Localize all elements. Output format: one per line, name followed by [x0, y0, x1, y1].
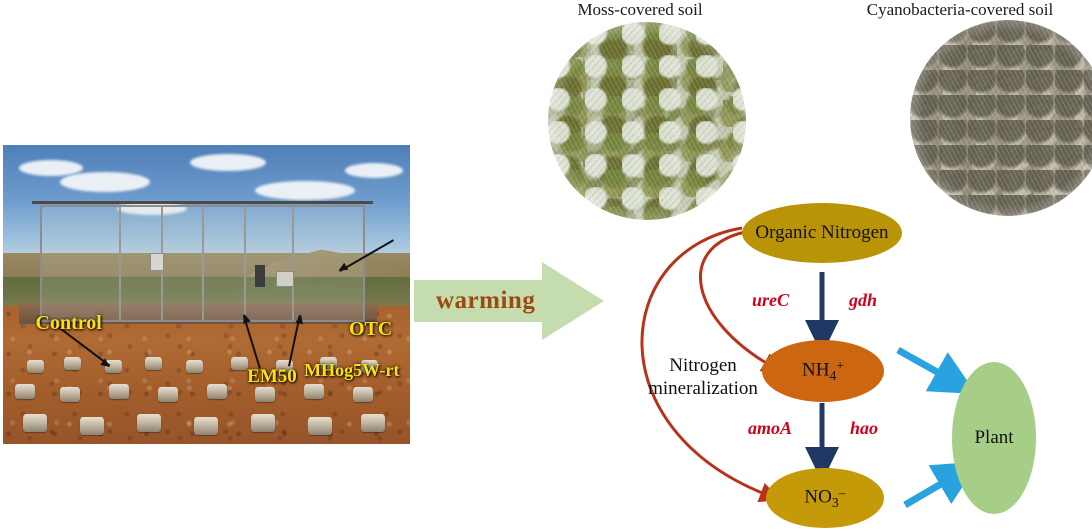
warming-arrow: warming	[414, 262, 604, 340]
mhog-sensor	[276, 271, 294, 287]
cloud	[60, 172, 150, 192]
node-nitrate-label: NO3–	[804, 486, 845, 510]
gene-label-gdh: gdh	[849, 290, 877, 311]
process-label-line2: mineralization	[628, 378, 778, 401]
soil-collar	[194, 417, 218, 435]
soil-collar	[304, 384, 324, 399]
moss-soil-title: Moss-covered soil	[460, 0, 820, 20]
chamber-frame	[119, 207, 121, 321]
soil-collar	[231, 357, 248, 370]
warming-label: warming	[436, 287, 535, 315]
cyanobacteria-soil-title: Cyanobacteria-covered soil	[828, 0, 1092, 20]
photo-label-otc: OTC	[349, 318, 392, 341]
cloud	[190, 154, 266, 171]
node-ammonium-label: NH4+	[802, 359, 844, 383]
em50-datalogger	[150, 253, 164, 271]
soil-collar	[158, 387, 178, 402]
process-label-line1: Nitrogen	[628, 355, 778, 378]
soil-collar	[353, 387, 373, 402]
process-label-nitrogen-mineralization: Nitrogen mineralization	[628, 355, 778, 401]
gene-label-hao: hao	[850, 418, 878, 439]
arrow-nitrate-uptake-plant	[905, 474, 958, 505]
soil-collar	[60, 387, 80, 402]
arrow-ammonium-uptake-plant	[898, 350, 955, 382]
chamber-frame	[244, 207, 246, 321]
photo-label-control: Control	[36, 312, 102, 335]
soil-collar	[255, 387, 275, 402]
figure-canvas: Control OTC EM50 MHog5W-rt warming Moss-…	[0, 0, 1092, 531]
soil-collar	[251, 414, 275, 432]
node-organic-nitrogen[interactable]: Organic Nitrogen	[742, 203, 902, 263]
soil-collar	[109, 384, 129, 399]
cloud	[19, 160, 83, 176]
gene-label-amoA: amoA	[748, 418, 792, 439]
node-plant[interactable]: Plant	[952, 362, 1036, 514]
soil-collar	[361, 414, 385, 432]
node-ammonium[interactable]: NH4+	[762, 340, 884, 402]
chamber-frame	[202, 207, 204, 321]
chamber-top-rail	[32, 201, 373, 204]
soil-collar	[80, 417, 104, 435]
soil-collar	[308, 417, 332, 435]
node-plant-label: Plant	[974, 428, 1013, 448]
photo-label-mhog5w-rt: MHog5W-rt	[304, 360, 399, 381]
soil-collar	[137, 414, 161, 432]
node-nitrate[interactable]: NO3–	[766, 468, 884, 528]
soil-collar	[64, 357, 81, 370]
soil-collar	[23, 414, 47, 432]
cloud	[255, 181, 355, 200]
soil-collar	[207, 384, 227, 399]
field-experiment-photo: Control OTC EM50 MHog5W-rt	[3, 145, 410, 444]
gene-label-ureC: ureC	[752, 290, 789, 311]
photo-label-em50: EM50	[247, 366, 297, 388]
open-top-chamber	[40, 205, 366, 323]
soil-collar	[186, 360, 203, 373]
photo-scene: Control OTC EM50 MHog5W-rt	[3, 145, 410, 444]
sensor-post	[255, 265, 265, 287]
node-organic-nitrogen-label: Organic Nitrogen	[755, 223, 888, 243]
cloud	[345, 163, 403, 178]
cyanobacteria-covered-soil-image	[910, 20, 1092, 216]
soil-collar	[27, 360, 44, 373]
soil-collar	[145, 357, 162, 370]
chamber-frame	[292, 207, 294, 321]
moss-covered-soil-image	[548, 22, 746, 220]
soil-collar	[15, 384, 35, 399]
